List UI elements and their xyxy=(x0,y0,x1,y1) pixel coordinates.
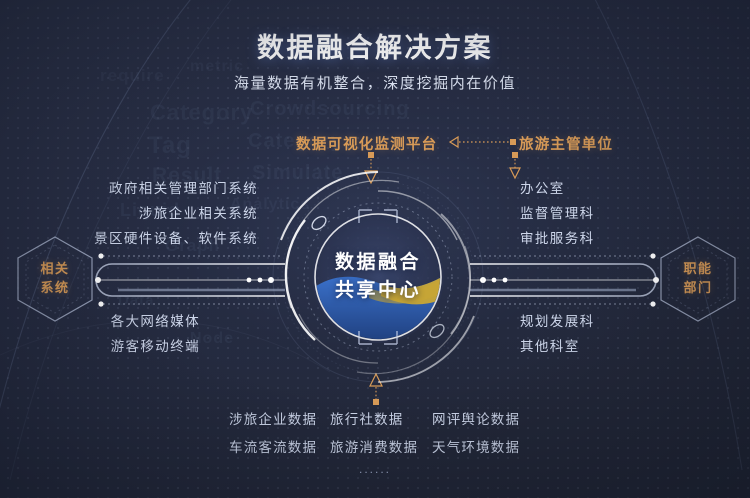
ghost-word: Category xyxy=(150,100,253,126)
hexagon-right-label: 职能 部门 xyxy=(655,233,741,325)
center-hub[interactable]: 数据融合 共享中心 xyxy=(269,168,487,386)
label-bottom-r1-c2: 天气环境数据 xyxy=(432,436,520,456)
label-bottom-r0-c0: 涉旅企业数据 xyxy=(229,408,317,428)
label-bottom-r1-c0: 车流客流数据 xyxy=(229,436,317,456)
label-left-bottom-1: 游客移动终端 xyxy=(111,335,200,355)
page-subtitle: 海量数据有机整合，深度挖掘内在价值 xyxy=(0,72,750,93)
ghost-word: Data xyxy=(118,292,155,309)
label-left-top-2: 景区硬件设备、软件系统 xyxy=(94,227,258,247)
center-line2: 共享中心 xyxy=(335,277,421,306)
page-title: 数据融合解决方案 xyxy=(0,26,750,65)
label-left-bottom-0: 各大网络媒体 xyxy=(111,310,200,330)
hexagon-left-line2: 系统 xyxy=(40,279,69,298)
label-bottom-r0-c1: 旅行社数据 xyxy=(330,408,404,428)
label-right-top-1: 监督管理科 xyxy=(520,202,595,222)
hexagon-left-label: 相关 系统 xyxy=(12,233,98,325)
label-left-top-0: 政府相关管理部门系统 xyxy=(109,177,258,197)
hexagon-left-line1: 相关 xyxy=(40,260,69,279)
hexagon-functional-departments[interactable]: 职能 部门 xyxy=(655,233,741,325)
label-visualization-platform: 数据可视化监测平台 xyxy=(296,133,437,154)
label-bottom-r0-c2: 网评舆论数据 xyxy=(432,408,520,428)
triangle-down-icon-authority xyxy=(507,152,523,180)
ghost-word: Tag xyxy=(148,132,192,160)
hexagon-right-line1: 职能 xyxy=(683,260,712,279)
label-right-top-2: 审批服务科 xyxy=(520,227,595,247)
hexagon-related-systems[interactable]: 相关 系统 xyxy=(12,233,98,325)
label-left-top-1: 涉旅企业相关系统 xyxy=(139,202,258,222)
label-right-bottom-0: 规划发展科 xyxy=(520,310,595,330)
center-line1: 数据融合 xyxy=(335,249,421,278)
label-right-bottom-1: 其他科室 xyxy=(520,335,580,355)
bottom-ellipsis: ...... xyxy=(0,462,750,476)
label-right-top-0: 办公室 xyxy=(520,177,565,197)
label-bottom-r1-c1: 旅游消费数据 xyxy=(330,436,418,456)
infographic-slide: CategoryCrowdsourcingTagCategoryResultSi… xyxy=(0,0,750,498)
center-hub-label: 数据融合 共享中心 xyxy=(269,168,487,386)
arrow-left-icon xyxy=(448,134,518,150)
hexagon-right-line2: 部门 xyxy=(683,279,712,298)
label-tourism-authority: 旅游主管单位 xyxy=(519,133,613,154)
ghost-word: Crowdsourcing xyxy=(250,98,410,121)
